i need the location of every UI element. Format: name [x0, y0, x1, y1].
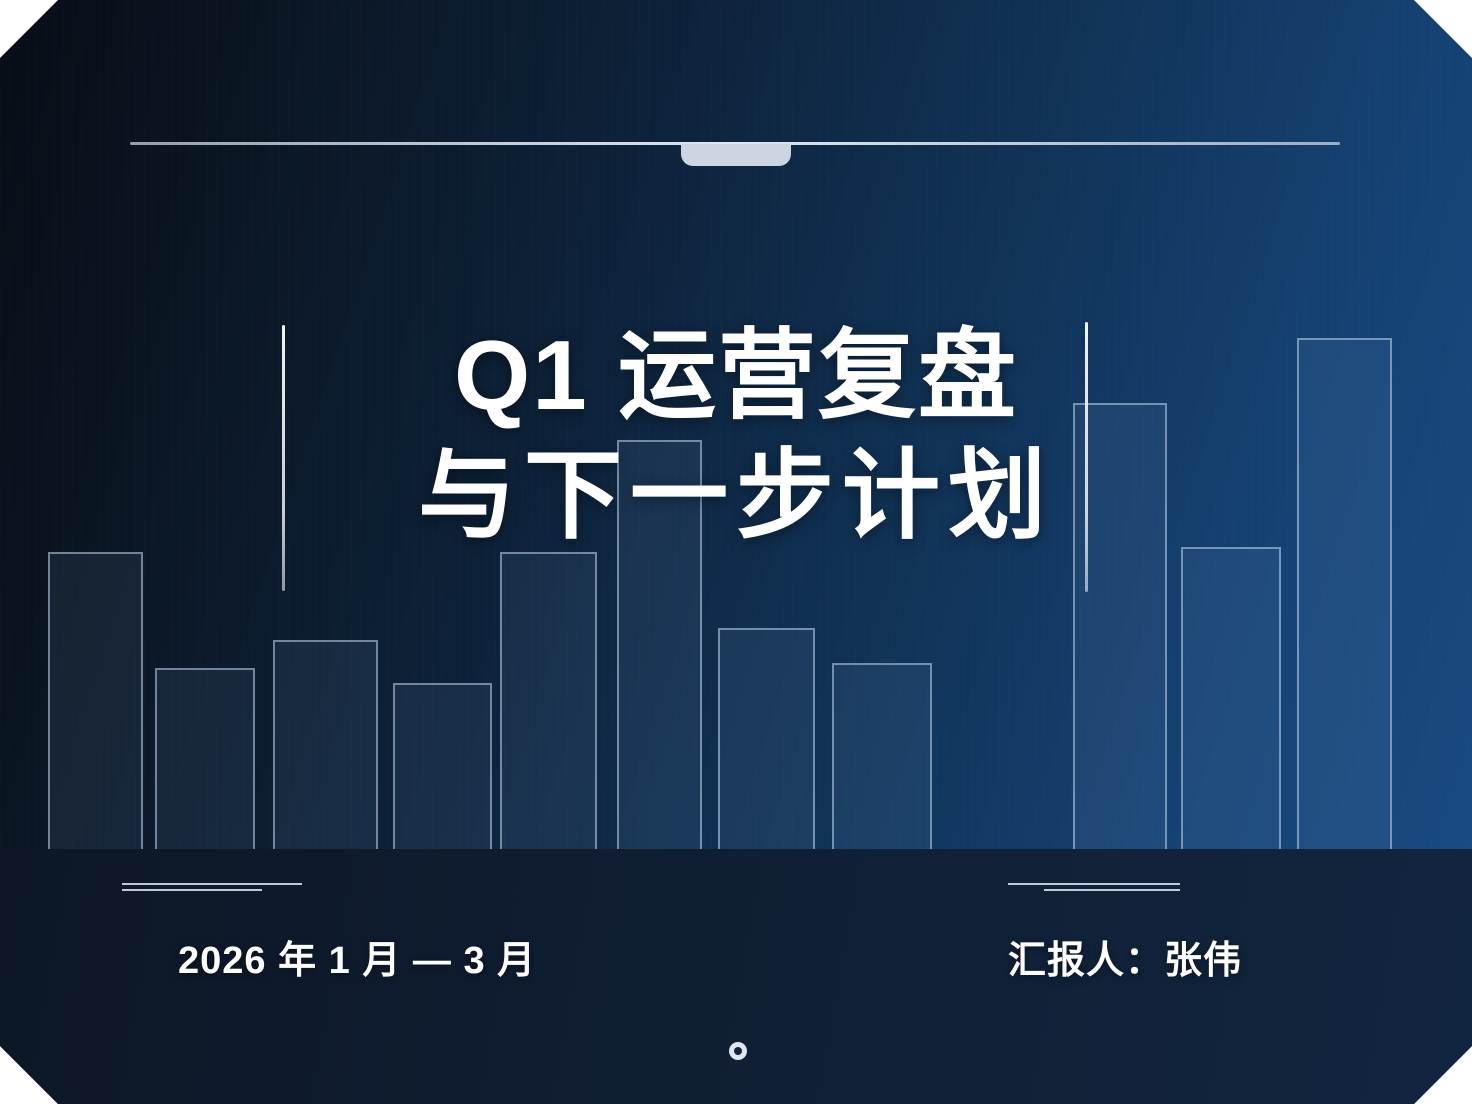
chart-bar	[1181, 547, 1281, 849]
presentation-slide: Q1 运营复盘 与下一步计划 2026 年 1 月 — 3 月 汇报人：张伟	[0, 0, 1472, 1104]
chart-bar	[48, 552, 143, 849]
chart-bar	[155, 668, 255, 849]
presenter-label: 汇报人：张伟	[1008, 929, 1242, 984]
camera-notch-icon	[681, 144, 791, 166]
period-label: 2026 年 1 月 — 3 月	[178, 929, 536, 984]
presenter-rule-lower	[1044, 889, 1180, 891]
chart-bar	[718, 628, 815, 849]
period-rule-decoration	[178, 883, 536, 897]
title-accent-rule-left	[282, 325, 285, 591]
chart-bar	[393, 683, 492, 849]
chart-bar	[832, 663, 932, 849]
chart-bar	[1297, 338, 1392, 849]
title-accent-rule-right	[1085, 322, 1088, 592]
period-rule-lower	[122, 889, 262, 891]
ring-icon	[729, 1042, 747, 1060]
period-rule-upper	[122, 883, 302, 885]
chart-bar	[617, 440, 702, 849]
period-block: 2026 年 1 月 — 3 月	[178, 883, 536, 984]
background-bar-chart	[0, 0, 1472, 849]
presenter-rule-decoration	[1008, 883, 1242, 897]
presenter-block: 汇报人：张伟	[1008, 883, 1242, 984]
chart-bar	[500, 552, 597, 849]
presenter-rule-upper	[1008, 883, 1180, 885]
chart-bar	[273, 640, 378, 849]
